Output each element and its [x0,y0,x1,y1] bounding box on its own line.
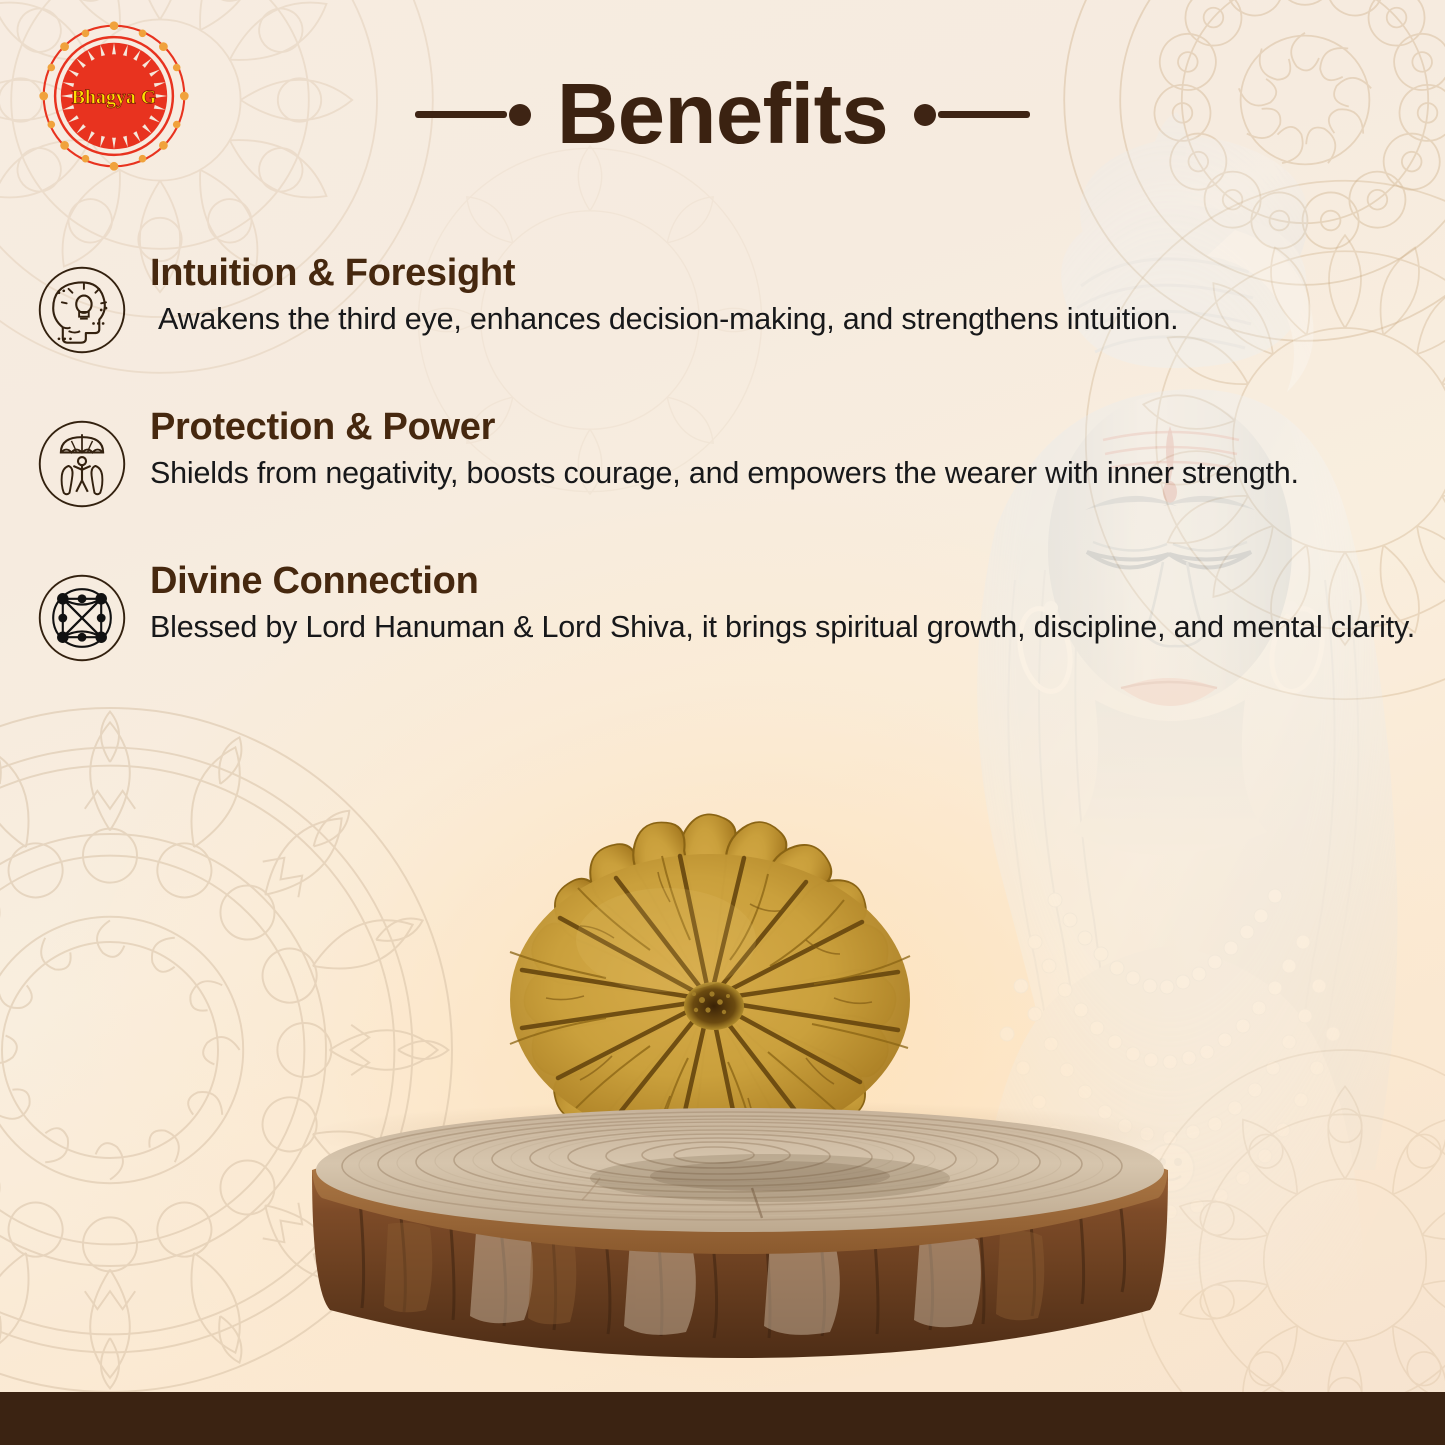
benefit-item-intuition: Intuition & Foresight Awakens the third … [34,248,1434,358]
benefit-item-divine-connection: Divine Connection Blessed by Lord Hanuma… [34,556,1434,666]
wood-log-slice-icon [300,1060,1180,1370]
benefits-list: Intuition & Foresight Awakens the third … [34,248,1434,710]
decoration-line-icon [938,111,1030,118]
decoration-dot-icon [914,104,936,126]
benefit-description: Awakens the third eye, enhances decision… [150,300,1178,340]
network-nodes-icon [34,570,130,666]
page-title-row: Benefits [0,72,1445,157]
benefit-item-protection: Protection & Power Shields from negativi… [34,402,1434,512]
benefit-text-block: Protection & Power Shields from negativi… [150,402,1299,493]
benefit-heading: Divine Connection [150,560,1415,604]
decoration-line-icon [415,111,507,118]
head-lightbulb-icon [34,262,130,358]
benefit-description: Shields from negativity, boosts courage,… [150,454,1299,494]
benefit-description: Blessed by Lord Hanuman & Lord Shiva, it… [150,608,1415,648]
bottom-bar [0,1392,1445,1445]
title-decoration-right [914,104,1030,126]
benefit-text-block: Intuition & Foresight Awakens the third … [150,248,1178,339]
decoration-dot-icon [509,104,531,126]
benefit-text-block: Divine Connection Blessed by Lord Hanuma… [150,556,1415,647]
title-decoration-left [415,104,531,126]
page-title: Benefits [557,72,888,157]
umbrella-protection-icon [34,416,130,512]
benefit-heading: Intuition & Foresight [150,252,1178,296]
product-composition [0,800,1445,1400]
benefit-heading: Protection & Power [150,406,1299,450]
benefits-infographic-page: Bhagya G Benefits [0,0,1445,1445]
